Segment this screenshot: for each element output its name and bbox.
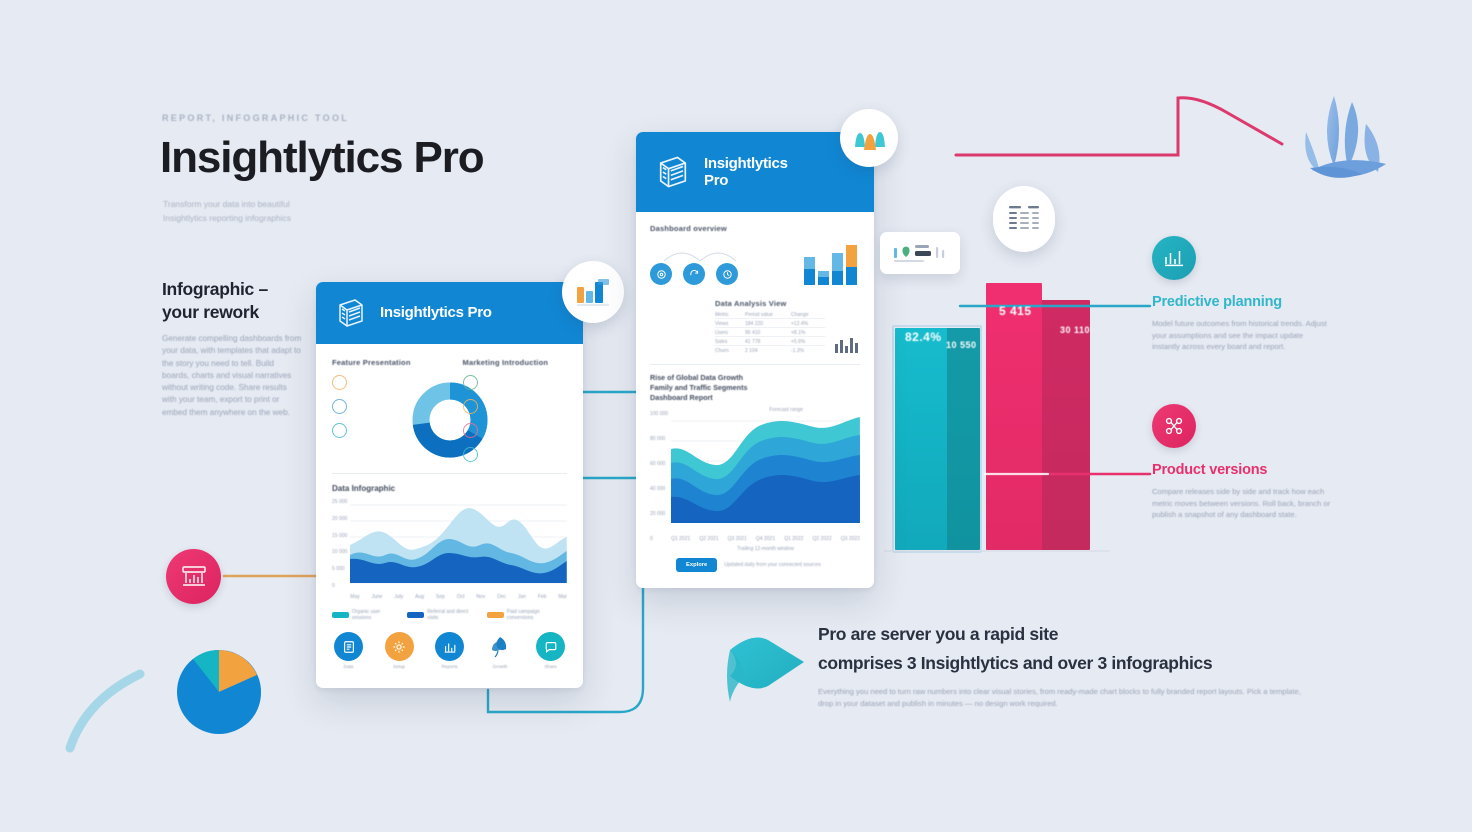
card-one-column-left: Feature Presentation bbox=[332, 358, 437, 471]
rocket-icon bbox=[463, 399, 478, 414]
clock-icon[interactable] bbox=[716, 263, 738, 285]
icon-tile[interactable]: Data bbox=[334, 632, 363, 669]
area-chart-xaxis: May June July Aug Sep Oct Nov Dec Jan Fe… bbox=[350, 594, 567, 600]
metric-chip bbox=[880, 232, 960, 274]
icon-caption: Reports bbox=[435, 664, 464, 669]
column-left-heading: Feature Presentation bbox=[332, 358, 437, 367]
x-tick: Aug bbox=[415, 594, 424, 600]
card-one-divider bbox=[332, 473, 567, 474]
teal-bar-label-back: 10 550 bbox=[946, 340, 977, 350]
x-tick: Q3 2021 bbox=[728, 536, 747, 542]
table-row: Churn 2 104 -1.3% bbox=[715, 345, 825, 354]
table-column-header: Metric bbox=[715, 312, 741, 318]
cta-heading-line-1: Pro are server you a rapid site bbox=[818, 624, 1058, 644]
feature-product-versions: Product versions Compare releases side b… bbox=[1152, 404, 1332, 521]
card-two-divider bbox=[650, 364, 860, 365]
analytics-icon[interactable] bbox=[435, 632, 464, 661]
card-one-body: Feature Presentation bbox=[316, 344, 583, 673]
x-tick: Q2 2021 bbox=[699, 536, 718, 542]
table-cell: Users bbox=[715, 330, 741, 336]
card-two-footnote: Updated daily from your connected source… bbox=[724, 562, 820, 568]
table-header-row: Metric Period value Change bbox=[715, 312, 825, 318]
share-network-icon bbox=[1163, 415, 1185, 437]
table-column-header: Period value bbox=[745, 312, 787, 318]
card-two-side-list bbox=[650, 299, 706, 354]
y-tick: 20 000 bbox=[332, 516, 347, 522]
presentation-chart-icon bbox=[180, 565, 208, 589]
icon-caption: Growth bbox=[486, 664, 515, 669]
round-icon-group bbox=[650, 241, 738, 287]
card-two-brand: Insightlytics Pro bbox=[704, 155, 788, 189]
leaf-fan-icon bbox=[1305, 96, 1386, 178]
icon-tile[interactable]: Growth bbox=[486, 632, 515, 669]
bar-chart-icon bbox=[1163, 248, 1185, 268]
bar-chart bbox=[802, 241, 860, 287]
cta-body: Everything you need to turn raw numbers … bbox=[818, 686, 1318, 710]
leaf-icon[interactable] bbox=[486, 632, 515, 661]
legend-swatch bbox=[487, 612, 504, 618]
table-icon bbox=[1006, 203, 1042, 235]
cta-heading: Pro are server you a rapid site comprise… bbox=[818, 620, 1318, 678]
intro-body: Generate compelling dashboards from your… bbox=[162, 333, 302, 419]
table-column-header: Change bbox=[791, 312, 819, 318]
y-tick: 60 000 bbox=[650, 461, 668, 467]
feature-body: Compare releases side by side and track … bbox=[1152, 486, 1332, 521]
pink-bar-label: 5 415 bbox=[999, 304, 1032, 318]
connector-arcs bbox=[650, 243, 750, 265]
bar-chart-icon bbox=[849, 121, 889, 155]
table-cell: -1.3% bbox=[791, 348, 819, 354]
big-area-plot bbox=[671, 411, 860, 529]
chart-heading-line-1: Rise of Global Data Growth bbox=[650, 373, 860, 383]
card-one-icon-row: Data Setup Reports bbox=[332, 632, 567, 669]
y-tick: 25 000 bbox=[332, 499, 347, 505]
x-tick: Feb bbox=[538, 594, 547, 600]
table-cell: +12.4% bbox=[791, 321, 819, 327]
y-tick: 5 000 bbox=[332, 566, 347, 572]
infographic-card-two[interactable]: Insightlytics Pro Dashboard overview bbox=[636, 132, 874, 588]
icon-caption: Data bbox=[334, 664, 363, 669]
heart-icon bbox=[463, 423, 478, 438]
x-tick: Sep bbox=[436, 594, 445, 600]
y-tick: 20 000 bbox=[650, 511, 668, 517]
icon-tile[interactable]: Reports bbox=[435, 632, 464, 669]
document-icon[interactable] bbox=[334, 632, 363, 661]
right-arrow-icon bbox=[727, 638, 804, 702]
infographic-canvas: REPORT, INFOGRAPHIC TOOL Insightlytics P… bbox=[0, 0, 1472, 832]
presentation-chart-badge bbox=[166, 549, 221, 604]
feature-icon-share-network bbox=[1152, 404, 1196, 448]
page-title: Insightlytics Pro bbox=[160, 133, 484, 183]
pie-chart-decor bbox=[177, 650, 261, 734]
table-cell: 96 410 bbox=[745, 330, 787, 336]
stacked-layers-icon bbox=[654, 153, 692, 191]
x-tick: Q4 2021 bbox=[756, 536, 775, 542]
x-tick: Nov bbox=[476, 594, 485, 600]
leaf-icon bbox=[463, 375, 478, 390]
area-chart-legend: Organic user sessions Referral and direc… bbox=[332, 609, 567, 621]
x-tick: Q3 2022 bbox=[841, 536, 860, 542]
x-tick: Jan bbox=[518, 594, 526, 600]
big-area-chart: 100 000 80 000 60 000 40 000 20 000 0 Fo… bbox=[650, 411, 860, 552]
target-icon[interactable] bbox=[650, 263, 672, 285]
explore-button[interactable]: Explore bbox=[676, 558, 717, 572]
icon-caption: Setup bbox=[385, 664, 414, 669]
table-title: Data Analysis View bbox=[715, 299, 825, 308]
chart-heading-line-2: Family and Traffic Segments bbox=[650, 383, 860, 393]
table-cell: +5.6% bbox=[791, 339, 819, 345]
area-chart-title: Data Infographic bbox=[332, 484, 567, 493]
y-tick: 0 bbox=[650, 536, 668, 542]
chart-heading-line-3: Dashboard Report bbox=[650, 393, 860, 403]
card-one-badge bbox=[562, 261, 624, 323]
y-tick: 15 000 bbox=[332, 533, 347, 539]
decorative-bar-group bbox=[884, 283, 1110, 552]
x-tick: Q1 2021 bbox=[671, 536, 690, 542]
x-tick: Q1 2022 bbox=[784, 536, 803, 542]
x-tick: Dec bbox=[497, 594, 506, 600]
stacked-layers-icon bbox=[334, 296, 368, 330]
cloud-icon bbox=[332, 399, 347, 414]
feature-body: Model future outcomes from historical tr… bbox=[1152, 318, 1332, 353]
table-cell: 184 220 bbox=[745, 321, 787, 327]
table-cell: Sales bbox=[715, 339, 741, 345]
card-two-badge bbox=[840, 109, 898, 167]
bar-chart-icon bbox=[573, 275, 613, 309]
legend-swatch bbox=[407, 612, 424, 618]
y-tick: 10 000 bbox=[332, 549, 347, 555]
eyebrow-label: REPORT, INFOGRAPHIC TOOL bbox=[162, 113, 349, 123]
side-list-heading bbox=[650, 299, 706, 308]
card-one-brand: Insightlytics Pro bbox=[380, 304, 492, 322]
table-row: Users 96 410 +8.1% bbox=[715, 327, 825, 336]
feature-title: Product versions bbox=[1152, 462, 1332, 478]
sparkline-icon bbox=[834, 336, 860, 354]
subtitle-line-1: Transform your data into beautiful bbox=[163, 198, 373, 211]
table-cell: 2 104 bbox=[745, 348, 787, 354]
legend-label: Referral and direct visits bbox=[427, 609, 480, 621]
page-subtitle: Transform your data into beautiful Insig… bbox=[163, 198, 373, 225]
feature-icon-bar-chart bbox=[1152, 236, 1196, 280]
person-icon bbox=[332, 423, 347, 438]
card-two-header: Insightlytics Pro bbox=[636, 132, 874, 212]
metric-chip-icon bbox=[891, 242, 949, 264]
card-two-section-heading: Dashboard overview bbox=[650, 224, 860, 233]
cta-block: Pro are server you a rapid site comprise… bbox=[818, 620, 1318, 710]
icon-caption: Share bbox=[536, 664, 565, 669]
column-right-heading: Marketing Introduction bbox=[463, 358, 568, 367]
subtitle-line-2: Insightlytics reporting infographics bbox=[163, 212, 373, 225]
card-two-body: Dashboard overview bbox=[636, 212, 874, 572]
legend-label: Paid campaign conversions bbox=[507, 609, 567, 621]
x-tick: May bbox=[350, 594, 359, 600]
pink-bar-label-back: 30 110 bbox=[1060, 325, 1090, 335]
data-table[interactable]: Data Analysis View Metric Period value C… bbox=[715, 299, 825, 354]
table-row: Views 184 220 +12.4% bbox=[715, 318, 825, 327]
chart-annotation: Forecast range bbox=[769, 407, 803, 413]
tree-icon bbox=[463, 447, 478, 462]
brand-line-1: Insightlytics bbox=[704, 155, 788, 172]
icon-tile[interactable]: Share bbox=[536, 632, 565, 669]
x-tick: June bbox=[372, 594, 383, 600]
area-chart: 25 000 20 000 15 000 10 000 5 000 0 bbox=[332, 499, 567, 600]
x-tick: Mar bbox=[558, 594, 567, 600]
big-chart-caption: Trailing 12-month window bbox=[671, 546, 860, 552]
x-tick: Oct bbox=[457, 594, 465, 600]
big-chart-xaxis: Q1 2021 Q2 2021 Q3 2021 Q4 2021 Q1 2022 … bbox=[671, 536, 860, 542]
card-two-text-lines bbox=[748, 241, 796, 287]
feature-predictive-planning: Predictive planning Model future outcome… bbox=[1152, 236, 1332, 353]
intro-heading: Infographic – your rework bbox=[162, 278, 307, 324]
cta-heading-line-2: comprises 3 Insightlytics and over 3 inf… bbox=[818, 653, 1212, 673]
table-cell: 41 778 bbox=[745, 339, 787, 345]
y-tick: 0 bbox=[332, 583, 347, 589]
x-tick: Q2 2022 bbox=[812, 536, 831, 542]
table-cell: +8.1% bbox=[791, 330, 819, 336]
lightbulb-icon bbox=[332, 375, 347, 390]
card-two-chart-heading: Rise of Global Data Growth Family and Tr… bbox=[650, 373, 860, 403]
legend-swatch bbox=[332, 612, 349, 618]
feature-title: Predictive planning bbox=[1152, 294, 1332, 310]
cycle-icon[interactable] bbox=[683, 263, 705, 285]
area-chart-plot bbox=[350, 499, 567, 587]
infographic-card-one[interactable]: Insightlytics Pro Feature Presentation bbox=[316, 282, 583, 688]
teal-bar-label: 82.4% bbox=[905, 330, 942, 344]
settings-icon[interactable] bbox=[385, 632, 414, 661]
y-tick: 100 000 bbox=[650, 411, 668, 417]
icon-tile[interactable]: Setup bbox=[385, 632, 414, 669]
table-cell: Churn bbox=[715, 348, 741, 354]
y-tick: 40 000 bbox=[650, 486, 668, 492]
brand-line-2: Pro bbox=[704, 172, 788, 189]
y-tick: 80 000 bbox=[650, 436, 668, 442]
legend-label: Organic user sessions bbox=[352, 609, 401, 621]
table-bubble bbox=[993, 186, 1055, 252]
chat-icon[interactable] bbox=[536, 632, 565, 661]
table-row: Sales 41 778 +5.6% bbox=[715, 336, 825, 345]
card-one-header: Insightlytics Pro bbox=[316, 282, 583, 344]
donut-chart bbox=[411, 381, 489, 459]
table-cell: Views bbox=[715, 321, 741, 327]
x-tick: July bbox=[394, 594, 403, 600]
